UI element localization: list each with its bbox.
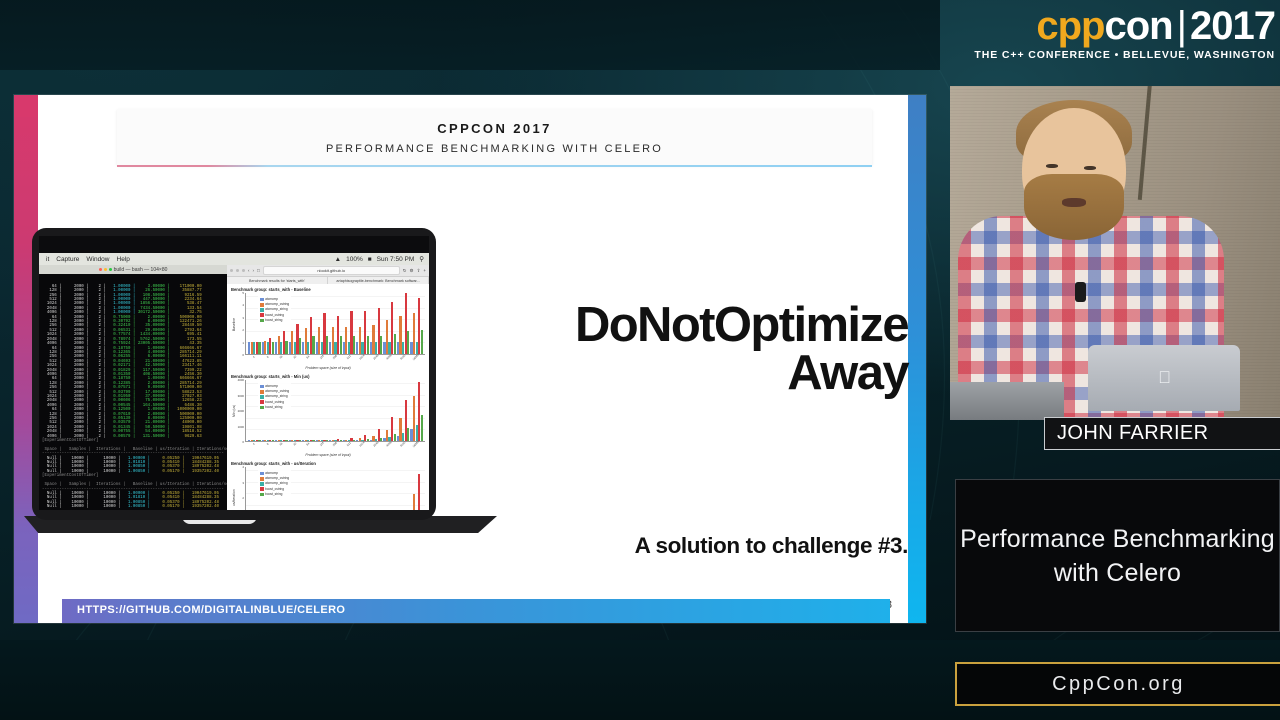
- slide-header-title: CPPCON 2017: [117, 121, 872, 136]
- slide-footer-url-text: HTTPS://GITHUB.COM/DIGITALINBLUE/CELERO: [77, 604, 345, 616]
- terminal-title-text: build — bash — 104×80: [114, 267, 168, 273]
- legend-swatch: [260, 308, 264, 312]
- chart-2-bars: atcmcmpatcmcmp_cstringatcmcmp_stringboos…: [245, 380, 425, 442]
- chart-1-bars: atcmcmpatcmcmp_cstringatcmcmp_stringboos…: [245, 293, 425, 355]
- chart-3-plot-area: us/Iteration01234atcmcmpatcmcmp_cstringa…: [231, 467, 425, 510]
- battery-percent: 100%: [346, 256, 363, 263]
- chart-1: Benchmark group: starts_with - BaselineB…: [227, 284, 429, 371]
- bar-group: [370, 293, 383, 354]
- browser-share-icon[interactable]: ⇧: [417, 268, 421, 274]
- cppcon-tagline: THE C++ CONFERENCE • BELLEVUE, WASHINGTO…: [955, 49, 1275, 61]
- laptop-screen: it Capture Window Help ▲ 100% ■ Sun 7:50…: [39, 236, 429, 510]
- legend-label: boost_string: [265, 405, 282, 410]
- browser-page-content: Benchmark group: starts_with - BaselineB…: [227, 284, 429, 510]
- browser-back-icon[interactable]: ‹: [248, 268, 250, 273]
- bar-group: [302, 380, 315, 441]
- presentation-slide: CPPCON 2017 PERFORMANCE BENCHMARKING WIT…: [14, 95, 926, 623]
- browser-toolbar: ‹ › □ nlookit.github.io ↻ ⚙ ⇧ +: [227, 265, 429, 277]
- legend-swatch: [260, 319, 264, 323]
- speaker-video-feed: : [950, 86, 1280, 420]
- speaker-mouth: [1062, 198, 1086, 207]
- chart-3-bars: atcmcmpatcmcmp_cstringatcmcmp_stringboos…: [245, 467, 425, 510]
- bar-group: [383, 467, 396, 510]
- legend-swatch: [260, 493, 264, 497]
- y-tick-label: 4: [242, 303, 244, 307]
- screen-capture-root: cppcon|2017 THE C++ CONFERENCE • BELLEVU…: [0, 0, 1280, 720]
- legend-swatch: [260, 385, 264, 389]
- terminal-output: 64 | 2000 | 2 | 1.00000 | 3.00000 | 1710…: [39, 274, 227, 510]
- bar-group: [383, 293, 396, 354]
- cppcon-org-banner[interactable]: CppCon.org: [955, 662, 1280, 706]
- slide-footer-url-bar: HTTPS://GITHUB.COM/DIGITALINBLUE/CELERO: [62, 599, 890, 623]
- y-tick-label: 2000: [238, 409, 244, 413]
- bar: [394, 334, 396, 354]
- cppcon-logo-wordmark: cppcon|2017: [955, 4, 1275, 48]
- browser-address-bar[interactable]: nlookit.github.io: [263, 266, 400, 275]
- chart-2-title: Benchmark group: starts_with - Min (us): [231, 374, 425, 379]
- browser-reload-icon[interactable]: ↻: [403, 268, 407, 274]
- slide-content-area: CPPCON 2017 PERFORMANCE BENCHMARKING WIT…: [38, 95, 908, 623]
- legend-label: boost_string: [265, 492, 282, 497]
- legend-swatch: [260, 395, 264, 399]
- legend-swatch: [260, 400, 264, 404]
- y-tick-label: 2: [242, 496, 244, 500]
- browser-sidebar-icon[interactable]: □: [257, 268, 260, 273]
- legend-entry: boost_string: [260, 318, 289, 323]
- bar-group: [302, 467, 315, 510]
- legend-swatch: [260, 303, 264, 307]
- speaker-name-lower-third: JOHN FARRIER: [1044, 417, 1280, 450]
- cppcon-org-text: CppCon.org: [1052, 673, 1185, 696]
- battery-icon: ■: [368, 256, 372, 263]
- bar-group: [356, 293, 369, 354]
- bar-group: [302, 293, 315, 354]
- laptop-mockup-image: it Capture Window Help ▲ 100% ■ Sun 7:50…: [32, 228, 442, 546]
- browser-maximize-icon[interactable]: [242, 269, 245, 272]
- bar-group: [329, 467, 342, 510]
- legend-swatch: [260, 487, 264, 491]
- y-tick-label: 5: [242, 291, 244, 295]
- macos-menu-bar: it Capture Window Help ▲ 100% ■ Sun 7:50…: [39, 253, 429, 265]
- terminal-titlebar: build — bash — 104×80: [39, 265, 227, 274]
- legend-swatch: [260, 477, 264, 481]
- bar-group: [356, 380, 369, 441]
- chart-2-x-ticks: 48163264128256512102420484096819216384: [245, 442, 425, 446]
- y-tick-label: 4: [242, 465, 244, 469]
- podium: [950, 382, 1064, 420]
- chart-1-x-axis-label: Problem space (size of input): [231, 366, 425, 370]
- menubar-clock[interactable]: Sun 7:50 PM: [377, 256, 415, 263]
- chart-2: Benchmark group: starts_with - Min (us)M…: [227, 371, 429, 458]
- logo-cpp-text: cpp: [1036, 4, 1104, 48]
- legend-entry: boost_string: [260, 492, 289, 497]
- browser-window: ‹ › □ nlookit.github.io ↻ ⚙ ⇧ + Benchmar…: [227, 265, 429, 510]
- bar-group: [410, 467, 423, 510]
- logo-year-text: 2017: [1190, 4, 1275, 48]
- chart-1-plot-area: Baseline012345atcmcmpatcmcmp_cstringatcm…: [231, 293, 425, 355]
- slide-right-accent-bar: [908, 95, 926, 623]
- bar-group: [383, 380, 396, 441]
- talk-title-panel: Performance Benchmarking with Celero: [955, 479, 1280, 632]
- menu-item-capture[interactable]: Capture: [56, 256, 79, 263]
- browser-settings-icon[interactable]: ⚙: [410, 268, 414, 274]
- chart-3-legend: atcmcmpatcmcmp_cstringatcmcmp_stringboos…: [258, 470, 291, 498]
- legend-swatch: [260, 472, 264, 476]
- slide-title-line2: Away: [468, 349, 908, 397]
- y-tick-label: 3: [242, 316, 244, 320]
- chart-3-y-ticks: 01234: [237, 467, 245, 510]
- bar: [413, 494, 415, 510]
- bar-group: [370, 380, 383, 441]
- chart-1-title: Benchmark group: starts_with - Baseline: [231, 287, 425, 292]
- chart-1-y-ticks: 012345: [237, 293, 245, 355]
- bar-group: [370, 467, 383, 510]
- legend-swatch: [260, 390, 264, 394]
- bar: [340, 336, 342, 354]
- chart-2-x-axis-label: Problem space (size of input): [231, 453, 425, 457]
- logo-con-text: con: [1105, 4, 1173, 48]
- chart-3: Benchmark group: starts_with - us/Iterat…: [227, 458, 429, 510]
- y-tick-label: 1000: [238, 425, 244, 429]
- menu-item-window[interactable]: Window: [86, 256, 109, 263]
- browser-forward-icon[interactable]: ›: [253, 268, 255, 273]
- y-tick-label: 1: [242, 341, 244, 345]
- legend-swatch: [260, 313, 264, 317]
- bar: [367, 336, 369, 354]
- menu-item-it[interactable]: it: [46, 256, 49, 263]
- search-icon[interactable]: ⚲: [419, 255, 424, 263]
- bar-group: [316, 293, 329, 354]
- bar-group: [410, 380, 423, 441]
- chart-2-plot-area: Min (us)01000200030004000atcmcmpatcmcmp_…: [231, 380, 425, 442]
- background-top-band: [0, 0, 940, 70]
- slide-header-subtitle: PERFORMANCE BENCHMARKING WITH CELERO: [117, 143, 872, 155]
- speaker-eye-left: [1046, 164, 1058, 168]
- chart-1-legend: atcmcmpatcmcmp_cstringatcmcmp_stringboos…: [258, 296, 291, 324]
- bar-group: [316, 380, 329, 441]
- bar-group: [397, 293, 410, 354]
- y-tick-label: 0: [242, 353, 244, 357]
- browser-minimize-icon[interactable]: [236, 269, 239, 272]
- slide-title-line1: DoNotOptimize: [468, 301, 908, 349]
- apple-logo-icon: : [1156, 368, 1173, 387]
- y-tick-label: 2: [242, 328, 244, 332]
- browser-close-icon[interactable]: [230, 269, 233, 272]
- chart-1-x-ticks: 48163264128256512102420484096819216384: [245, 355, 425, 359]
- bar: [421, 415, 423, 441]
- logo-separator: |: [1173, 4, 1190, 48]
- chart-2-legend: atcmcmpatcmcmp_cstringatcmcmp_stringboos…: [258, 383, 291, 411]
- bar-group: [343, 467, 356, 510]
- lapel-microphone: [1075, 282, 1086, 302]
- bar-group: [410, 293, 423, 354]
- slide-header-box: CPPCON 2017 PERFORMANCE BENCHMARKING WIT…: [117, 109, 872, 165]
- laptop-lid: it Capture Window Help ▲ 100% ■ Sun 7:50…: [32, 228, 436, 520]
- legend-entry: boost_string: [260, 405, 289, 410]
- y-tick-label: 0: [242, 440, 244, 444]
- bar-group: [316, 467, 329, 510]
- slide-header-underline: [117, 165, 872, 167]
- slide-main-title: DoNotOptimize Away: [468, 301, 908, 397]
- speaker-eye-right: [1084, 166, 1096, 170]
- legend-swatch: [260, 406, 264, 410]
- bar-group: [343, 293, 356, 354]
- y-tick-label: 4000: [238, 378, 244, 382]
- slide-subtitle: A solution to challenge #3.: [468, 533, 908, 559]
- menubar-status-area: ▲ 100% ■ Sun 7:50 PM ⚲: [335, 255, 424, 263]
- chart-2-y-ticks: 01000200030004000: [237, 380, 245, 442]
- y-tick-label: 3000: [238, 394, 244, 398]
- legend-label: boost_string: [265, 318, 282, 323]
- bar: [418, 474, 420, 510]
- bar-group: [329, 380, 342, 441]
- bar-group: [343, 380, 356, 441]
- cppcon-logo: cppcon|2017 THE C++ CONFERENCE • BELLEVU…: [955, 4, 1275, 70]
- bar-group: [397, 467, 410, 510]
- bar: [421, 330, 423, 354]
- bar: [312, 336, 314, 354]
- talk-title-text: Performance Benchmarking with Celero: [956, 522, 1279, 590]
- y-tick-label: 3: [242, 481, 244, 485]
- speaker-name-text: JOHN FARRIER: [1057, 422, 1208, 445]
- bar-group: [397, 380, 410, 441]
- bar-group: [356, 467, 369, 510]
- menu-item-help[interactable]: Help: [117, 256, 130, 263]
- legend-swatch: [260, 298, 264, 302]
- chart-3-title: Benchmark group: starts_with - us/Iterat…: [231, 461, 425, 466]
- bar: [407, 331, 409, 354]
- speaker-beard: [1024, 174, 1124, 240]
- browser-newtab-icon[interactable]: +: [423, 268, 426, 273]
- legend-swatch: [260, 482, 264, 486]
- bar-group: [329, 293, 342, 354]
- terminal-window: build — bash — 104×80 64 | 2000 | 2 | 1.…: [39, 265, 227, 510]
- wifi-icon[interactable]: ▲: [335, 256, 341, 263]
